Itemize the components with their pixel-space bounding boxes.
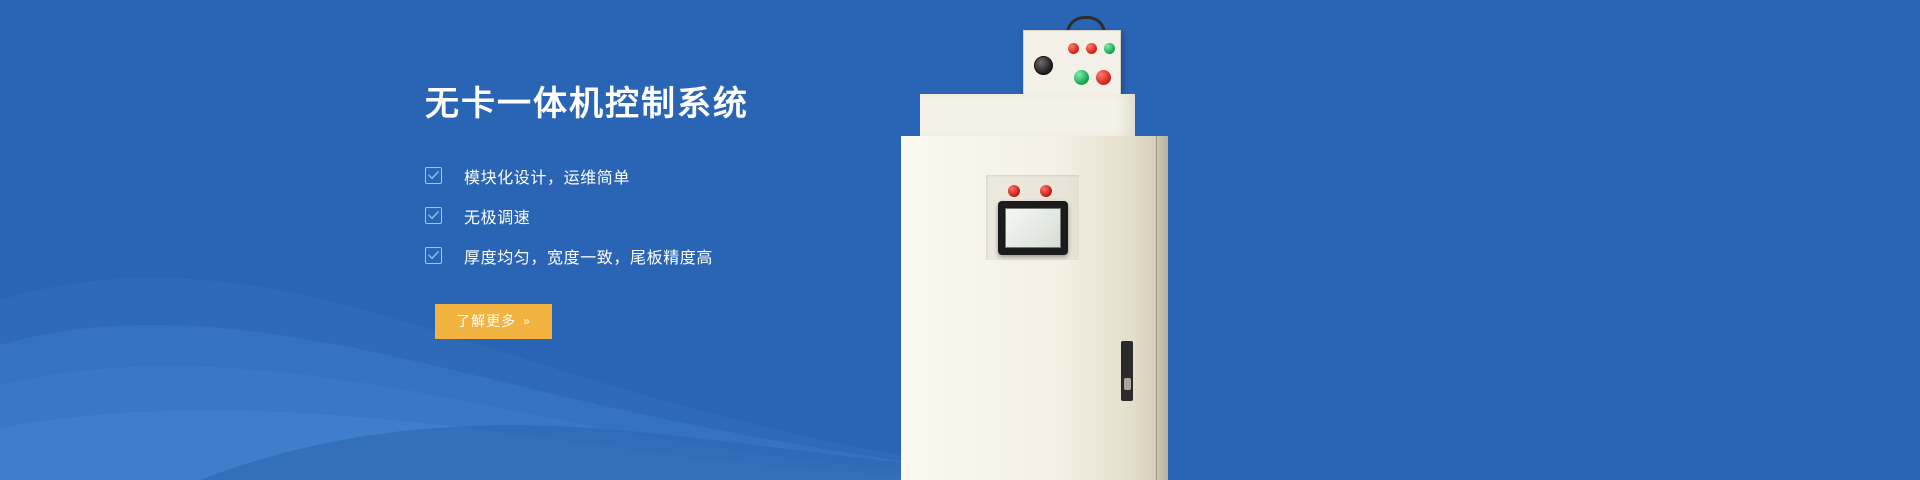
checkbox-checked-icon	[425, 247, 442, 264]
door-handle-grip	[1124, 378, 1131, 390]
indicator-lamp-green	[1104, 43, 1115, 54]
feature-list: 模块化设计，运维简单 无极调速 厚度均匀，宽度一致，尾板精度高	[425, 165, 945, 267]
list-item: 无极调速	[425, 205, 945, 227]
feature-label: 厚度均匀，宽度一致，尾板精度高	[464, 244, 713, 268]
cabinet-side-panel	[1156, 136, 1168, 480]
checkbox-checked-icon	[425, 207, 442, 224]
hmi-screen-surface	[1005, 208, 1061, 248]
indicator-lamp-red	[1086, 43, 1097, 54]
indicator-lamp-red	[1096, 70, 1111, 85]
cabinet-top-cap	[920, 94, 1135, 136]
checkbox-checked-icon	[425, 167, 442, 184]
cabinet-door-seam	[1156, 136, 1157, 480]
list-item: 模块化设计，运维简单	[425, 165, 945, 187]
list-item: 厚度均匀，宽度一致，尾板精度高	[425, 245, 945, 267]
indicator-lamp-green	[1074, 70, 1089, 85]
indicator-lamp-red	[1008, 185, 1020, 197]
cabinet-indicator-row	[1008, 185, 1064, 197]
door-handle	[1121, 341, 1133, 401]
top-control-panel	[1023, 30, 1121, 98]
hmi-touchscreen	[998, 201, 1068, 255]
indicator-lamp-red	[1068, 43, 1079, 54]
page-title: 无卡一体机控制系统	[425, 84, 945, 125]
rotary-selector-knob	[1034, 56, 1053, 75]
product-photo	[898, 0, 1198, 480]
feature-label: 模块化设计，运维简单	[464, 164, 630, 188]
indicator-lamp-red	[1040, 185, 1052, 197]
feature-label: 无极调速	[464, 204, 530, 228]
learn-more-label: 了解更多	[456, 311, 516, 331]
banner-content: 无卡一体机控制系统 模块化设计，运维简单 无极调速	[425, 84, 945, 339]
chevron-right-icon: »	[523, 314, 531, 328]
hero-banner: 无卡一体机控制系统 模块化设计，运维简单 无极调速	[0, 0, 1920, 480]
learn-more-button[interactable]: 了解更多 »	[435, 304, 552, 339]
